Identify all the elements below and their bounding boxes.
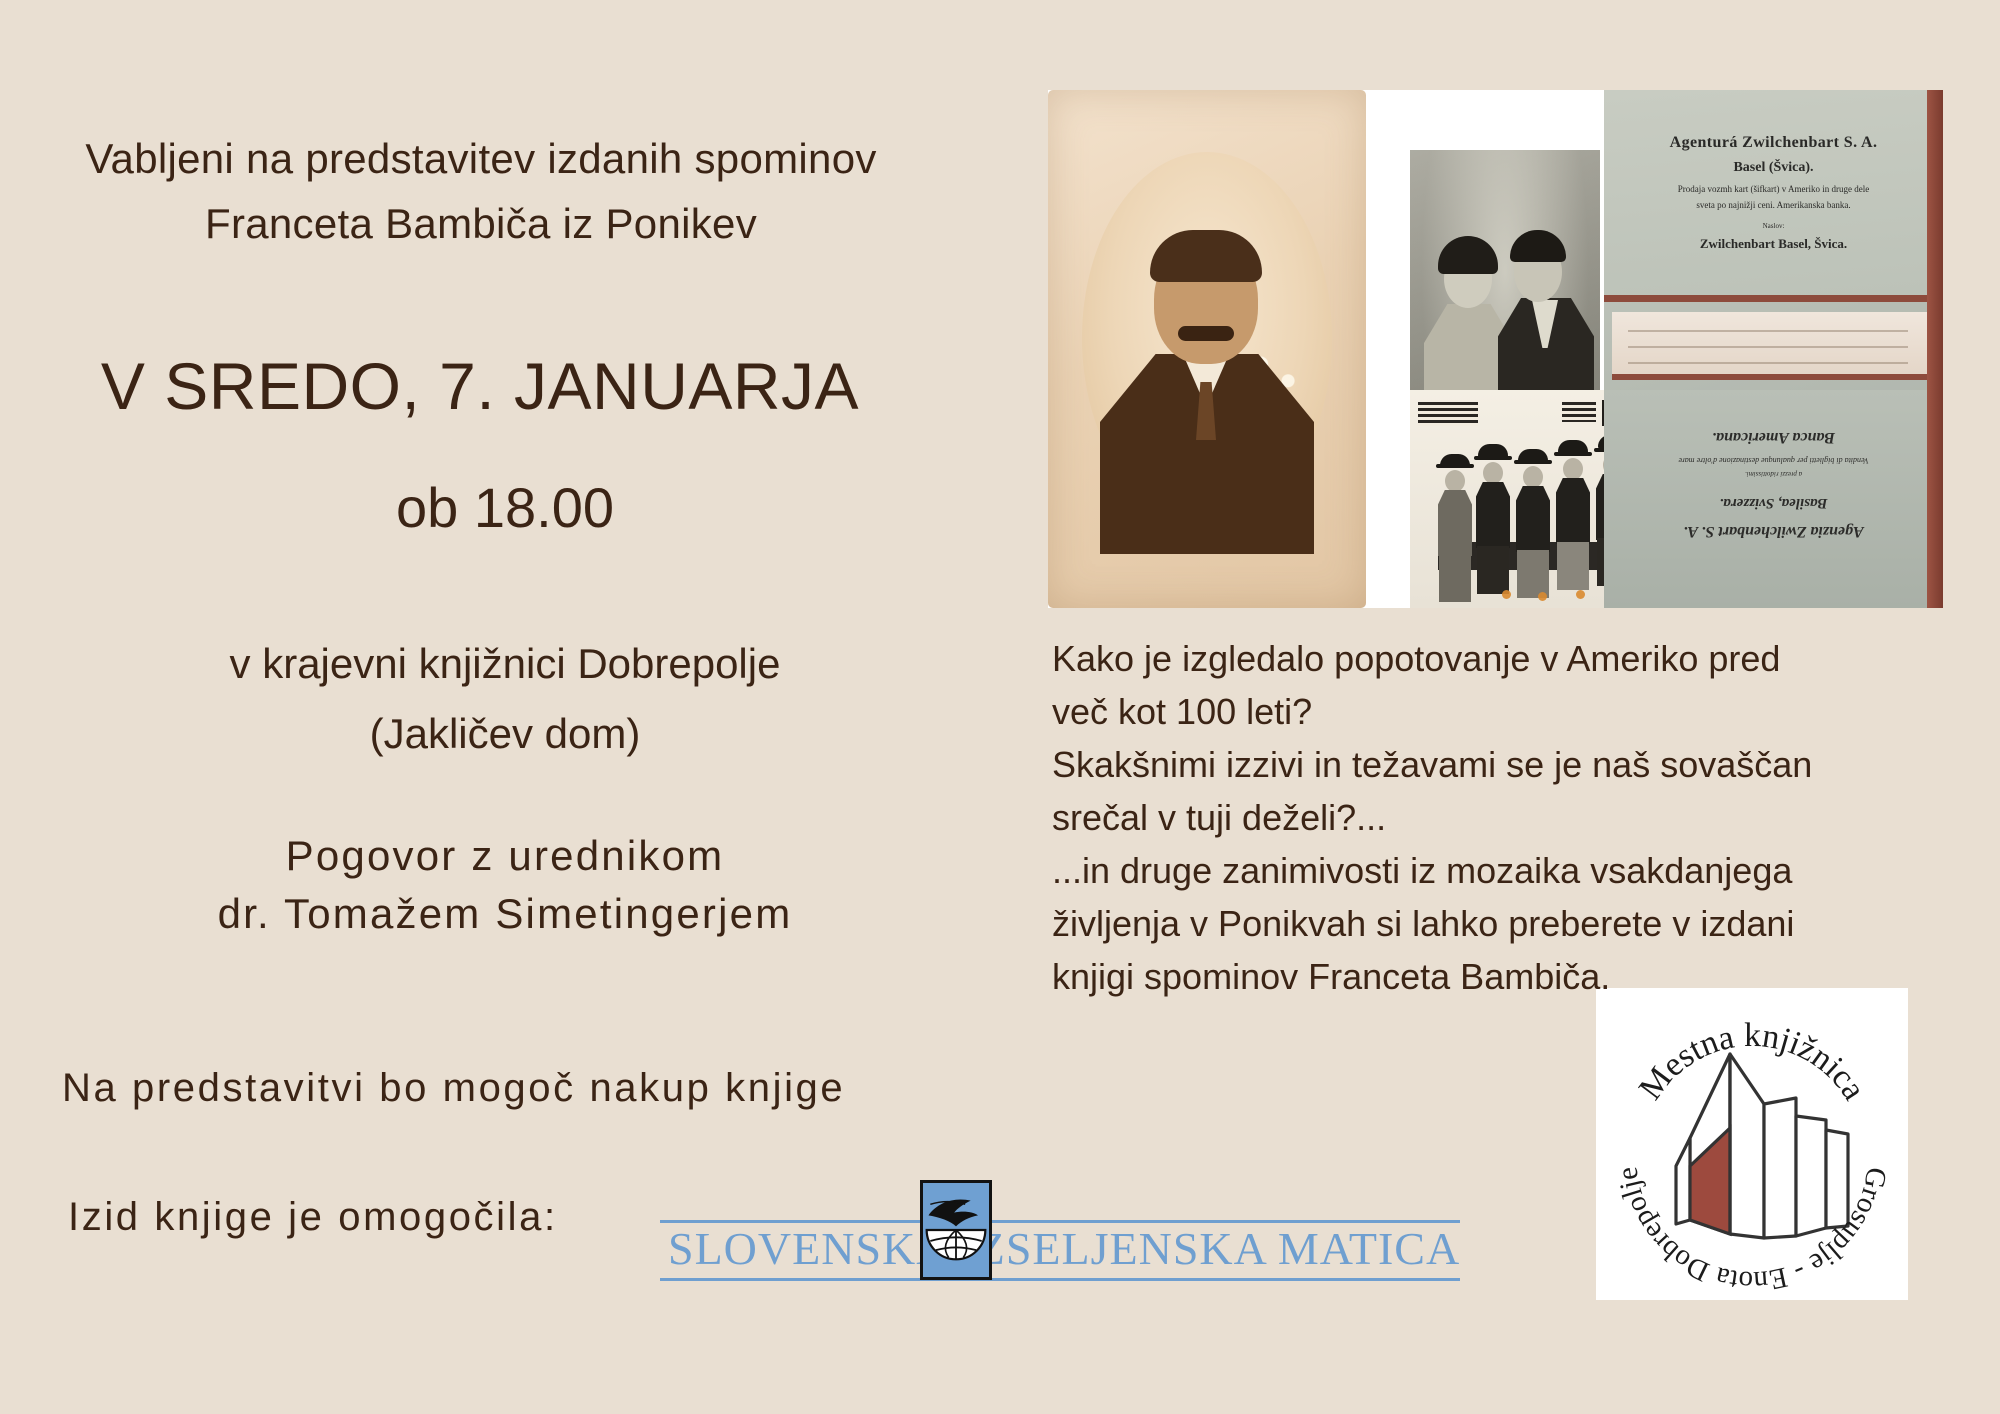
slovenska-izseljenska-matica-logo: SLOVENSKA IZSELJENSKA MATICA (660, 1178, 1460, 1288)
venue-line-1: v krajevni knjižnici Dobrepolje (0, 640, 1010, 688)
description-line: knjigi spominov Franceta Bambiča. (1052, 950, 1952, 1003)
group-vent-grille (1418, 402, 1478, 426)
event-date-heading: V SREDO, 7. JANUARJA (0, 348, 960, 424)
host-line-2: dr. Tomažem Simetingerjem (0, 890, 1010, 938)
description-line: Skakšnimi izzivi in težavami se je naš s… (1052, 738, 1952, 791)
event-time-heading: ob 18.00 (0, 475, 1010, 540)
document-agency-line-1: Agenturá Zwilchenbart S. A. (1604, 134, 1943, 152)
document-photo: Agenturá Zwilchenbart S. A. Basel (Švica… (1604, 90, 1943, 608)
sim-rule-bottom (660, 1278, 1460, 1281)
description-line: srečal v tuji deželi?... (1052, 791, 1952, 844)
invitation-line-1: Vabljeni na predstavitev izdanih spomino… (0, 135, 996, 183)
group-stain (1502, 590, 1511, 599)
group-window-a (1562, 402, 1596, 422)
venue-line-2: (Jakličev dom) (0, 710, 1010, 758)
document-agency-line-3: Prodaja vozmh kart (šifkart) v Ameriko i… (1604, 184, 1943, 194)
description-text-block: Kako je izgledalo popotovanje v Ameriko … (1052, 632, 1952, 1003)
document-agency-line-6: Zwilchenbart Basel, Švica. (1604, 236, 1943, 252)
portrait-moustache (1178, 326, 1234, 341)
document-italian-line-3: a prezzi ridottissimi. (1604, 470, 1943, 478)
document-agency-line-5: Naslov: (1604, 222, 1943, 230)
description-line: več kot 100 leti? (1052, 685, 1952, 738)
document-upper-flap: Agenturá Zwilchenbart S. A. Basel (Švica… (1604, 90, 1943, 302)
portrait-photo (1048, 90, 1366, 608)
host-line-1: Pogovor z urednikom (0, 832, 1010, 880)
group-stain (1576, 590, 1585, 599)
document-agency-line-2: Basel (Švica). (1604, 160, 1943, 176)
group-stain (1538, 592, 1547, 601)
poster-root: Vabljeni na predstavitev izdanih spomino… (0, 0, 2000, 1414)
sponsor-label: Izid knjige je omogočila: (68, 1195, 558, 1240)
description-line: življenja v Ponikvah si lahko preberete … (1052, 897, 1952, 950)
library-logo: Mestna knjižnica Grosuplje - Enota Dobre… (1596, 988, 1908, 1300)
document-italian-line-5: Agenzia Zwilchenbart S. A. (1604, 522, 1943, 540)
document-agency-line-4: sveta po najnižji ceni. Amerikanska bank… (1604, 200, 1943, 210)
document-italian-line-1: Banca Americana. (1604, 428, 1943, 446)
document-papers (1612, 312, 1934, 380)
photo-collage: Agenturá Zwilchenbart S. A. Basel (Švica… (1048, 90, 1943, 608)
description-line: ...in druge zanimivosti iz mozaika vsakd… (1052, 844, 1952, 897)
document-italian-line-2: Vendita di biglietti per qualunque desti… (1604, 456, 1943, 465)
description-line: Kako je izgledalo popotovanje v Ameriko … (1052, 632, 1952, 685)
purchase-note: Na predstavitvi bo mogoč nakup knjige (62, 1066, 845, 1111)
sim-logo-text: SLOVENSKA IZSELJENSKA MATICA (668, 1222, 1468, 1275)
document-italian-line-4: Basilea, Svizzera. (1604, 494, 1943, 511)
invitation-line-2: Franceta Bambiča iz Ponikev (0, 200, 996, 248)
document-lower-flap: Banca Americana. Vendita di biglietti pe… (1604, 390, 1943, 608)
document-spine (1927, 90, 1943, 608)
swallow-globe-emblem-icon (920, 1180, 992, 1280)
